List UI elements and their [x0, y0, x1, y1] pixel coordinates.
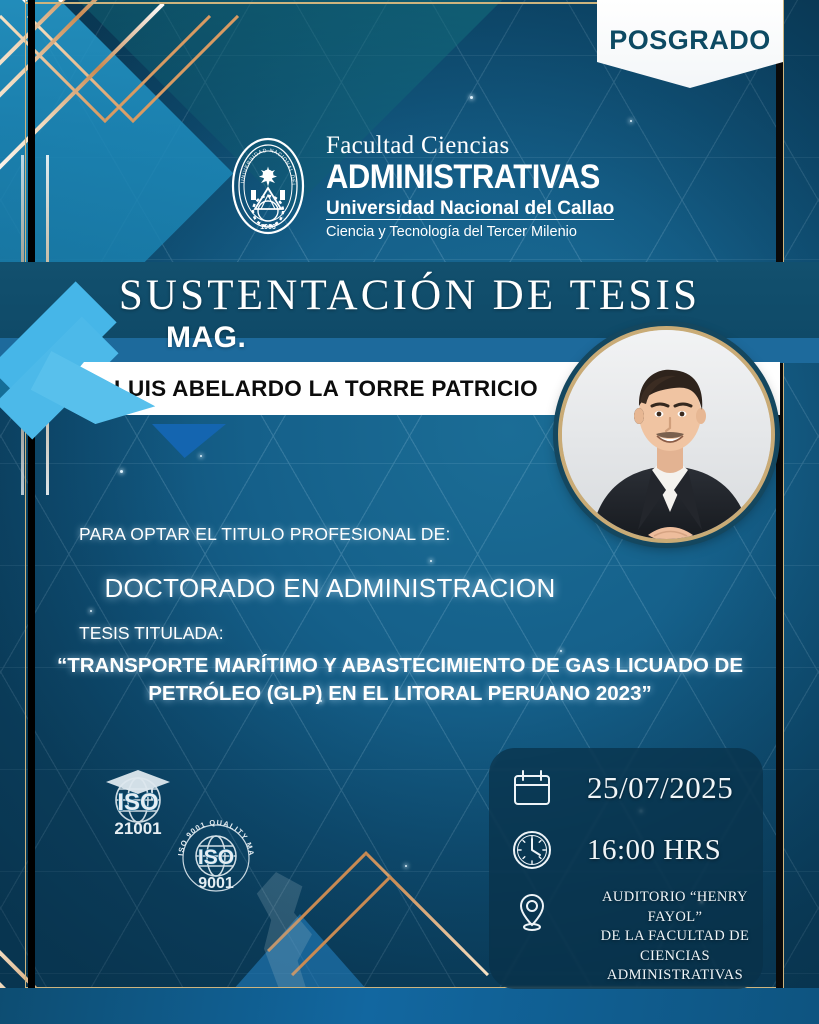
event-location-line-3: CIENCIAS: [640, 948, 710, 964]
iso-9001-icon: ISO 9001 QUALITY MANAGEMENT ISO 9001: [170, 812, 262, 904]
university-name: Universidad Nacional del Callao: [326, 199, 614, 220]
event-time-row: 16:00 HRS: [509, 827, 721, 873]
faculty-line-1: Facultad Ciencias: [326, 133, 614, 158]
thesis-title-line-1: “TRANSPORTE MARÍTIMO Y ABASTECIMIENTO DE…: [40, 652, 760, 680]
svg-text:1966: 1966: [260, 224, 276, 231]
event-location-row: AUDITORIO “HENRY FAYOL” DE LA FACULTAD D…: [509, 888, 773, 986]
page-title: SUSTENTACIÓN DE TESIS: [0, 271, 819, 320]
university-seal-icon: UNIVERSIDAD NACIONAL DEL CALLAO 1966: [222, 135, 314, 237]
event-date-row: 25/07/2025: [509, 765, 733, 811]
event-location: AUDITORIO “HENRY FAYOL” DE LA FACULTAD D…: [577, 888, 773, 986]
black-vertical-bar-left: [28, 0, 35, 988]
calendar-icon: [509, 765, 555, 811]
svg-text:ISO: ISO: [117, 789, 158, 816]
event-location-line-2: DE LA FACULTAD DE: [601, 928, 750, 944]
university-tagline: Ciencia y Tecnología del Tercer Milenio: [326, 225, 614, 240]
thesis-title: “TRANSPORTE MARÍTIMO Y ABASTECIMIENTO DE…: [40, 652, 760, 709]
clock-icon: [509, 827, 555, 873]
bottom-blue-strip: [0, 988, 819, 1024]
svg-text:ISO: ISO: [198, 846, 234, 869]
iso-21001-number: 21001: [114, 819, 161, 838]
location-pin-icon: [509, 888, 555, 934]
black-vertical-bar-right: [776, 0, 783, 988]
thesis-title-line-2: PETRÓLEO (GLP) EN EL LITORAL PERUANO 202…: [40, 680, 760, 708]
event-location-line-1: AUDITORIO “HENRY FAYOL”: [602, 889, 748, 925]
institution-logo-text: Facultad Ciencias ADMINISTRATIVAS Univer…: [326, 133, 614, 240]
event-time: 16:00 HRS: [587, 834, 721, 867]
candidate-name: LUIS ABELARDO LA TORRE PATRICIO: [114, 376, 538, 402]
event-info-card: 25/07/2025 16:00 HRS: [489, 748, 763, 989]
institution-logo-block: UNIVERSIDAD NACIONAL DEL CALLAO 1966 Fac…: [222, 133, 614, 240]
posgrado-badge-label: POSGRADO: [609, 25, 771, 56]
iso-9001-number: 9001: [198, 875, 234, 892]
thesis-label: TESIS TITULADA:: [79, 623, 224, 644]
dark-blue-arrow-shadow: [152, 424, 226, 458]
posgrado-badge: POSGRADO: [597, 0, 783, 88]
candidate-photo: [558, 326, 775, 543]
degree-prefix-label: MAG.: [166, 321, 246, 355]
faculty-line-2: ADMINISTRATIVAS: [326, 159, 614, 194]
event-date: 25/07/2025: [587, 770, 733, 806]
purpose-label: PARA OPTAR EL TITULO PROFESIONAL DE:: [79, 524, 451, 545]
event-location-line-4: ADMINISTRATIVAS: [607, 967, 743, 983]
poster-canvas: POSGRADO UNIVERSIDAD NACIONAL DEL CALLAO: [0, 0, 819, 1024]
degree-name: DOCTORADO EN ADMINISTRACION: [0, 573, 660, 604]
